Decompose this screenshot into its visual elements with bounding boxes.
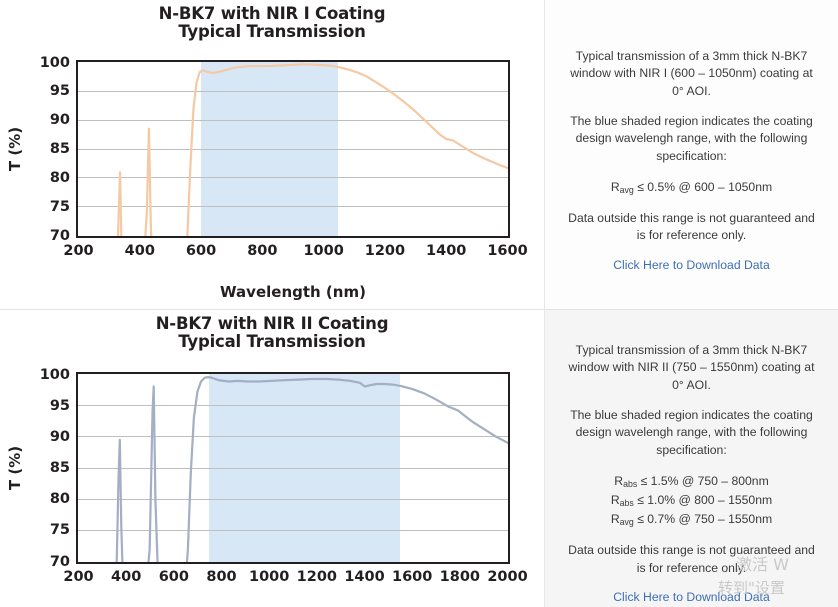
y-axis-tick-label: 70 (50, 554, 70, 570)
specification-list-nir-ii: Rabs ≤ 1.5% @ 750 – 800nmRabs ≤ 1.0% @ 8… (567, 472, 816, 529)
plot-frame-nir-i (76, 60, 510, 238)
x-axis-tick-label: 400 (111, 569, 141, 585)
plot-area-nir-i (76, 60, 510, 238)
spec-subscript: avg (620, 185, 634, 195)
chart-nir-ii: N-BK7 with NIR II Coating Typical Transm… (0, 310, 544, 607)
x-axis-tick-label: 600 (159, 569, 189, 585)
y-axis-tick-label: 80 (50, 170, 70, 186)
y-axis-label-nir-i: T (%) (6, 127, 24, 171)
y-axis-tick-label: 85 (50, 460, 70, 476)
x-axis-tick-label: 1800 (440, 569, 480, 585)
specification-line: Ravg ≤ 0.7% @ 750 – 1550nm (567, 510, 816, 529)
y-axis-tick-label: 70 (50, 228, 70, 244)
x-axis-tick-label: 200 (63, 569, 93, 585)
y-axis-tick-label: 85 (50, 141, 70, 157)
specification-line: Ravg ≤ 0.5% @ 600 – 1050nm (567, 178, 816, 197)
y-axis-tick-label: 100 (40, 367, 70, 383)
spec-value: ≤ 0.7% @ 750 – 1550nm (634, 512, 772, 526)
spec-value: ≤ 0.5% @ 600 – 1050nm (634, 180, 772, 194)
x-axis-tick-label: 400 (125, 243, 155, 259)
x-axis-tick-label: 1200 (297, 569, 337, 585)
spec-symbol: R (611, 493, 620, 507)
chart-cell-nir-ii: N-BK7 with NIR II Coating Typical Transm… (0, 310, 545, 607)
x-axis-tick-label: 2000 (487, 569, 527, 585)
chart-title-line-1: N-BK7 with NIR II Coating (0, 315, 544, 333)
y-axis-tick-label: 75 (50, 199, 70, 215)
y-axis-tick-label: 95 (50, 83, 70, 99)
plot-area-nir-ii (76, 372, 510, 564)
chart-title-line-2: Typical Transmission (0, 23, 544, 41)
description-para-2: The blue shaded region indicates the coa… (567, 113, 816, 165)
transmission-curve-nir-i (78, 62, 508, 236)
x-axis-tick-label: 1000 (303, 243, 343, 259)
y-axis-tick-label: 75 (50, 522, 70, 538)
description-para-3: Data outside this range is not guarantee… (567, 210, 816, 245)
spec-value: ≤ 1.5% @ 750 – 800nm (637, 474, 769, 488)
x-axis-tick-label: 200 (63, 243, 93, 259)
description-para-1: Typical transmission of a 3mm thick N-BK… (567, 342, 816, 394)
y-axis-tick-label: 95 (50, 398, 70, 414)
specification-line: Rabs ≤ 1.5% @ 750 – 800nm (567, 472, 816, 491)
x-axis-tick-label: 800 (206, 569, 236, 585)
x-axis-tick-label: 1200 (365, 243, 405, 259)
x-axis-tick-label: 800 (247, 243, 277, 259)
y-axis-tick-label: 100 (40, 55, 70, 71)
transmission-curve-nir-ii (78, 374, 508, 562)
description-panel-nir-i: Typical transmission of a 3mm thick N-BK… (545, 0, 838, 309)
description-para-2: The blue shaded region indicates the coa… (567, 407, 816, 459)
x-axis-tick-label: 1400 (344, 569, 384, 585)
chart-cell-nir-i: N-BK7 with NIR I Coating Typical Transmi… (0, 0, 545, 310)
download-data-link-nir-i[interactable]: Click Here to Download Data (567, 258, 816, 272)
x-axis-tick-label: 1600 (487, 243, 527, 259)
description-para-1: Typical transmission of a 3mm thick N-BK… (567, 48, 816, 100)
spec-value: ≤ 1.0% @ 800 – 1550nm (634, 493, 772, 507)
chart-title-nir-ii: N-BK7 with NIR II Coating Typical Transm… (0, 310, 544, 352)
chart-title-line-2: Typical Transmission (0, 333, 544, 351)
download-data-link-nir-ii[interactable]: Click Here to Download Data (567, 590, 816, 604)
plot-frame-nir-ii (76, 372, 510, 564)
spec-subscript: avg (620, 517, 634, 527)
chart-nir-i: N-BK7 with NIR I Coating Typical Transmi… (0, 0, 544, 309)
spec-symbol: R (611, 180, 620, 194)
spec-symbol: R (611, 512, 620, 526)
specification-list-nir-i: Ravg ≤ 0.5% @ 600 – 1050nm (567, 178, 816, 197)
x-axis-tick-label: 1600 (392, 569, 432, 585)
description-para-3: Data outside this range is not guarantee… (567, 542, 816, 577)
x-axis-tick-label: 600 (186, 243, 216, 259)
x-axis-tick-label: 1000 (249, 569, 289, 585)
x-axis-tick-label: 1400 (426, 243, 466, 259)
y-axis-tick-label: 90 (50, 112, 70, 128)
spec-subscript: abs (623, 479, 637, 489)
y-axis-tick-label: 80 (50, 491, 70, 507)
x-axis-label-nir-i: Wavelength (nm) (76, 283, 510, 301)
spec-subscript: abs (620, 498, 634, 508)
chart-title-line-1: N-BK7 with NIR I Coating (0, 5, 544, 23)
description-cell-nir-ii: Typical transmission of a 3mm thick N-BK… (545, 310, 838, 607)
description-cell-nir-i: Typical transmission of a 3mm thick N-BK… (545, 0, 838, 310)
y-axis-tick-label: 90 (50, 429, 70, 445)
specification-line: Rabs ≤ 1.0% @ 800 – 1550nm (567, 491, 816, 510)
description-panel-nir-ii: Typical transmission of a 3mm thick N-BK… (545, 310, 838, 607)
page-root: N-BK7 with NIR I Coating Typical Transmi… (0, 0, 838, 607)
chart-title-nir-i: N-BK7 with NIR I Coating Typical Transmi… (0, 0, 544, 42)
y-axis-label-nir-ii: T (%) (6, 446, 24, 490)
spec-symbol: R (614, 474, 623, 488)
